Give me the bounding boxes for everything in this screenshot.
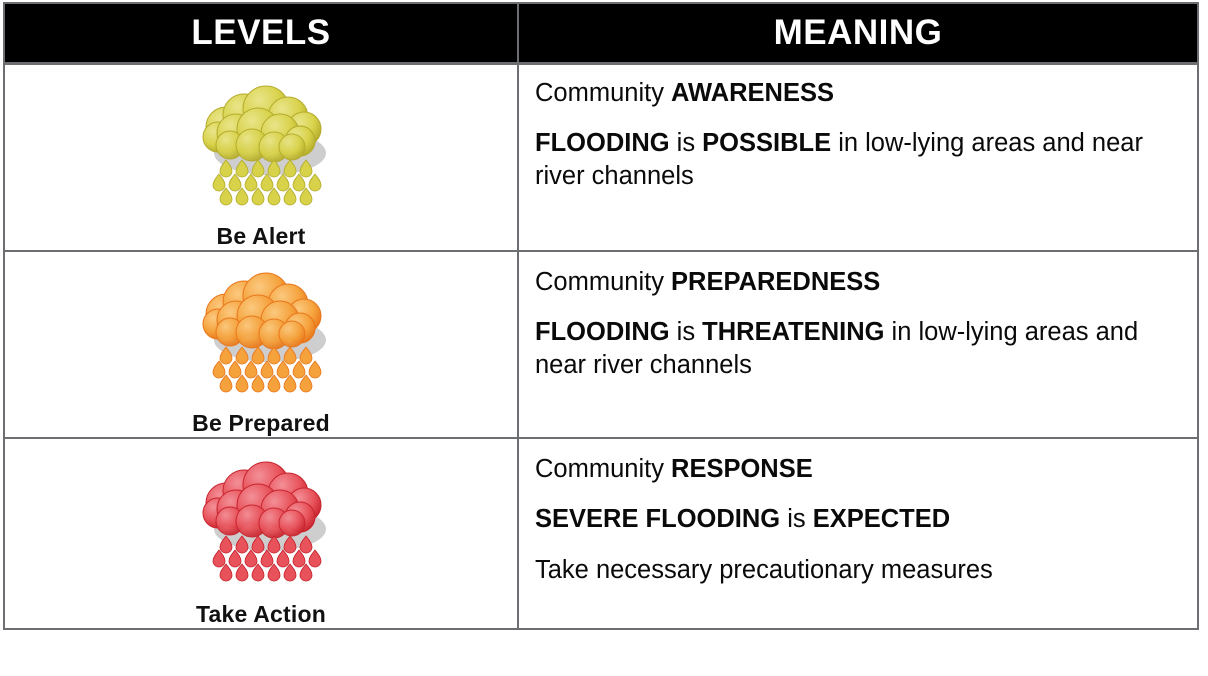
level-content: Be Prepared xyxy=(5,252,517,437)
emphasis-text: FLOODING xyxy=(535,129,670,157)
orange-rain-cloud-icon xyxy=(174,268,349,396)
raindrop xyxy=(309,550,321,567)
plain-text: Community xyxy=(535,455,671,483)
emphasis-text: THREATENING xyxy=(702,318,884,346)
level-cell: Be Prepared xyxy=(4,251,518,438)
meaning-line: FLOODING is POSSIBLE in low-lying areas … xyxy=(535,127,1187,192)
level-cell: Be Alert xyxy=(4,64,518,252)
emphasis-text: PREPAREDNESS xyxy=(671,268,880,296)
meaning-line: Community PREPAREDNESS xyxy=(535,266,1187,298)
emphasis-text: FLOODING xyxy=(535,318,670,346)
emphasis-text: EXPECTED xyxy=(813,505,950,533)
flood-alert-levels-table: LEVELS MEANING Be AlertCommunity AWARENE… xyxy=(3,2,1199,630)
level-content: Take Action xyxy=(5,439,517,628)
meaning-line: Take necessary precautionary measures xyxy=(535,554,1187,586)
emphasis-text: SEVERE FLOODING xyxy=(535,505,780,533)
level-label: Be Alert xyxy=(217,223,306,250)
emphasis-text: AWARENESS xyxy=(671,79,834,107)
level-label: Be Prepared xyxy=(192,410,330,437)
emphasis-text: RESPONSE xyxy=(671,455,813,483)
level-label: Take Action xyxy=(196,601,326,628)
plain-text: Take necessary precautionary measures xyxy=(535,556,993,584)
meaning-line: Community RESPONSE xyxy=(535,453,1187,485)
table-header: LEVELS MEANING xyxy=(4,3,1198,64)
raindrop xyxy=(309,361,321,378)
raindrop xyxy=(309,174,321,191)
plain-text: is xyxy=(670,318,703,346)
table-row: Be AlertCommunity AWARENESSFLOODING is P… xyxy=(4,64,1198,252)
yellow-rain-cloud-icon xyxy=(174,81,349,209)
flood-alert-levels-table-container: LEVELS MEANING Be AlertCommunity AWARENE… xyxy=(0,0,1208,676)
red-rain-cloud-icon xyxy=(174,457,349,585)
yellow-rain-cloud-icon xyxy=(174,81,349,209)
table-body: Be AlertCommunity AWARENESSFLOODING is P… xyxy=(4,64,1198,630)
column-header-levels: LEVELS xyxy=(4,3,518,64)
table-row: Take ActionCommunity RESPONSESEVERE FLOO… xyxy=(4,438,1198,629)
red-rain-cloud-icon xyxy=(174,457,349,585)
meaning-line: SEVERE FLOODING is EXPECTED xyxy=(535,503,1187,535)
level-cell: Take Action xyxy=(4,438,518,629)
orange-rain-cloud-icon xyxy=(174,268,349,396)
plain-text: Community xyxy=(535,268,671,296)
plain-text: Community xyxy=(535,79,671,107)
column-header-meaning: MEANING xyxy=(518,3,1198,64)
meaning-cell: Community RESPONSESEVERE FLOODING is EXP… xyxy=(518,438,1198,629)
meaning-cell: Community AWARENESSFLOODING is POSSIBLE … xyxy=(518,64,1198,252)
plain-text: is xyxy=(780,505,813,533)
meaning-line: Community AWARENESS xyxy=(535,77,1187,109)
meaning-line: FLOODING is THREATENING in low-lying are… xyxy=(535,316,1187,381)
level-content: Be Alert xyxy=(5,65,517,250)
table-header-row: LEVELS MEANING xyxy=(4,3,1198,64)
table-row: Be PreparedCommunity PREPAREDNESSFLOODIN… xyxy=(4,251,1198,438)
plain-text: is xyxy=(670,129,703,157)
meaning-cell: Community PREPAREDNESSFLOODING is THREAT… xyxy=(518,251,1198,438)
emphasis-text: POSSIBLE xyxy=(702,129,831,157)
